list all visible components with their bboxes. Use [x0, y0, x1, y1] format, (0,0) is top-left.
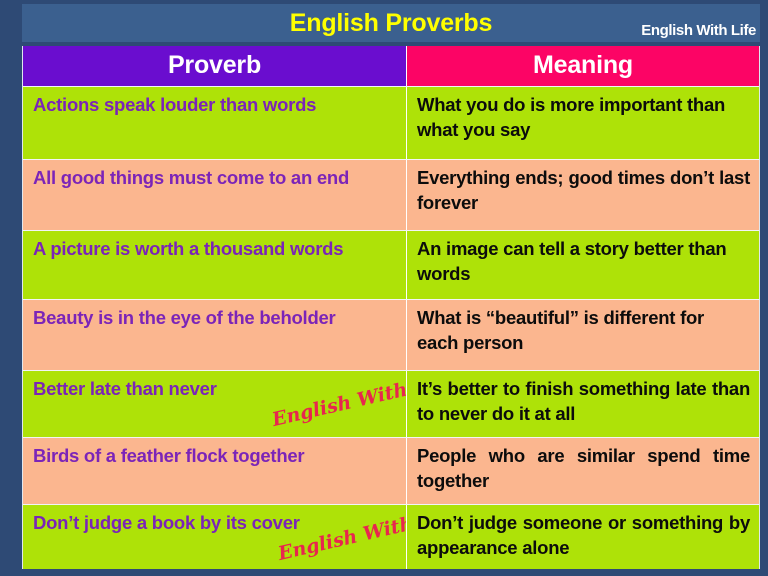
- column-header-proverb-label: Proverb: [168, 51, 261, 79]
- brand-label: English With Life: [641, 22, 756, 39]
- table-row: Beauty is in the eye of the beholder Wha…: [23, 300, 759, 371]
- column-header-proverb: Proverb: [23, 46, 407, 86]
- meaning-cell: An image can tell a story better than wo…: [407, 231, 759, 299]
- proverb-cell: Beauty is in the eye of the beholder: [23, 300, 407, 370]
- slide-root: English Proverbs English With Life Prove…: [0, 0, 768, 576]
- table-header-row: Proverb Meaning: [23, 46, 759, 87]
- meaning-text: People who are similar spend time togeth…: [417, 443, 750, 493]
- proverb-text: Don’t judge a book by its cover: [33, 510, 397, 535]
- meaning-text: An image can tell a story better than wo…: [417, 236, 750, 286]
- page-title: English Proverbs: [290, 9, 492, 38]
- meaning-text: What is “beautiful” is different for eac…: [417, 305, 750, 355]
- proverb-text: Actions speak louder than words: [33, 92, 397, 117]
- proverb-cell: All good things must come to an end: [23, 160, 407, 230]
- proverb-text: All good things must come to an end: [33, 165, 397, 190]
- proverb-cell: Actions speak louder than words: [23, 87, 407, 159]
- proverb-text: Birds of a feather flock together: [33, 443, 397, 468]
- table-row: Don’t judge a book by its cover English …: [23, 505, 759, 569]
- table-row: Actions speak louder than words What you…: [23, 87, 759, 160]
- meaning-text: Everything ends; good times don’t last f…: [417, 165, 750, 215]
- column-header-meaning-label: Meaning: [533, 51, 633, 79]
- table-row: A picture is worth a thousand words An i…: [23, 231, 759, 300]
- proverb-cell: Birds of a feather flock together: [23, 438, 407, 504]
- table-row: Better late than never English With Life…: [23, 371, 759, 438]
- proverb-text: Beauty is in the eye of the beholder: [33, 305, 397, 330]
- table-row: All good things must come to an end Ever…: [23, 160, 759, 231]
- proverbs-table: Proverb Meaning Actions speak louder tha…: [22, 46, 760, 569]
- proverb-cell: Better late than never English With Life: [23, 371, 407, 437]
- proverb-cell: A picture is worth a thousand words: [23, 231, 407, 299]
- meaning-cell: What is “beautiful” is different for eac…: [407, 300, 759, 370]
- meaning-text: Don’t judge someone or something by appe…: [417, 510, 750, 560]
- meaning-cell: People who are similar spend time togeth…: [407, 438, 759, 504]
- title-bar: English Proverbs English With Life: [22, 4, 760, 42]
- proverb-text: A picture is worth a thousand words: [33, 236, 397, 261]
- meaning-cell: What you do is more important than what …: [407, 87, 759, 159]
- meaning-cell: Don’t judge someone or something by appe…: [407, 505, 759, 569]
- proverb-text: Better late than never: [33, 376, 397, 401]
- meaning-cell: Everything ends; good times don’t last f…: [407, 160, 759, 230]
- column-header-meaning: Meaning: [407, 46, 759, 86]
- table-row: Birds of a feather flock together People…: [23, 438, 759, 505]
- meaning-text: It’s better to finish something late tha…: [417, 376, 750, 426]
- meaning-text: What you do is more important than what …: [417, 92, 750, 142]
- proverb-cell: Don’t judge a book by its cover English …: [23, 505, 407, 569]
- meaning-cell: It’s better to finish something late tha…: [407, 371, 759, 437]
